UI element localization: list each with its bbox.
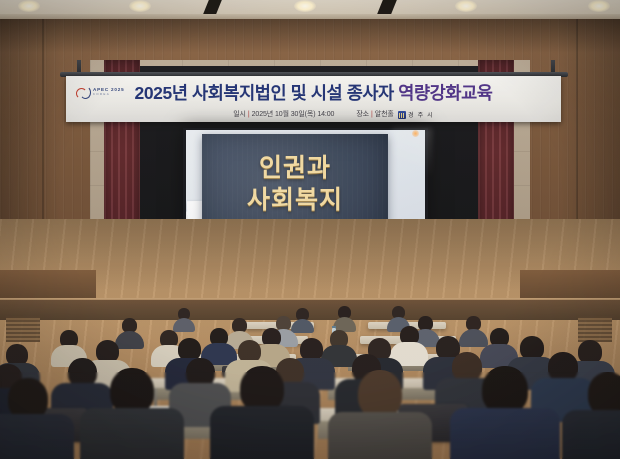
banner-subtitle: 일시|2025년 10월 30일(목) 14:00장소|알천홀 — [66, 109, 561, 119]
slide-heading-line1: 인권과 — [202, 148, 388, 184]
slide-heading-line2: 사회복지 — [202, 180, 388, 216]
ceiling-spotlight-icon — [18, 0, 40, 12]
projector-lens-flare — [412, 130, 419, 137]
wall-shadow — [0, 19, 620, 53]
banner-title: 2025년 사회복지법인 및 시설 종사자 역량강화교육 — [66, 80, 561, 105]
banner-title-primary: 2025년 사회복지법인 및 시설 종사자 — [135, 83, 399, 103]
projector-beam — [392, 128, 432, 188]
ceiling-spotlight-icon — [129, 0, 151, 12]
banner-separator: | — [371, 111, 373, 118]
city-name: 경 주 시 — [408, 110, 434, 119]
ceiling-spotlight-icon — [294, 0, 316, 12]
wall-vent — [6, 316, 40, 342]
banner-place-value: 알천홀 — [375, 111, 394, 118]
ceiling-spotlight-icon — [588, 0, 610, 12]
banner-date-value: 2025년 10월 30일(목) 14:00 — [252, 111, 335, 118]
banner-date-label: 일시 — [233, 111, 246, 118]
banner-separator: | — [248, 111, 250, 118]
wall-vent — [578, 316, 612, 342]
bottle-cap — [332, 326, 336, 328]
banner-title-accent: 역량강화교육 — [398, 83, 492, 103]
stage-front — [0, 300, 620, 320]
lecture-hall-photo: APEC 2025 KOREA 2025년 사회복지법인 및 시설 종사자 역량… — [0, 0, 620, 459]
banner-place-label: 장소 — [356, 111, 369, 118]
ceiling-spotlight-icon — [455, 0, 477, 12]
gyeongju-city-emblem-icon — [398, 111, 406, 119]
city-logo: 경 주 시 — [398, 110, 434, 119]
